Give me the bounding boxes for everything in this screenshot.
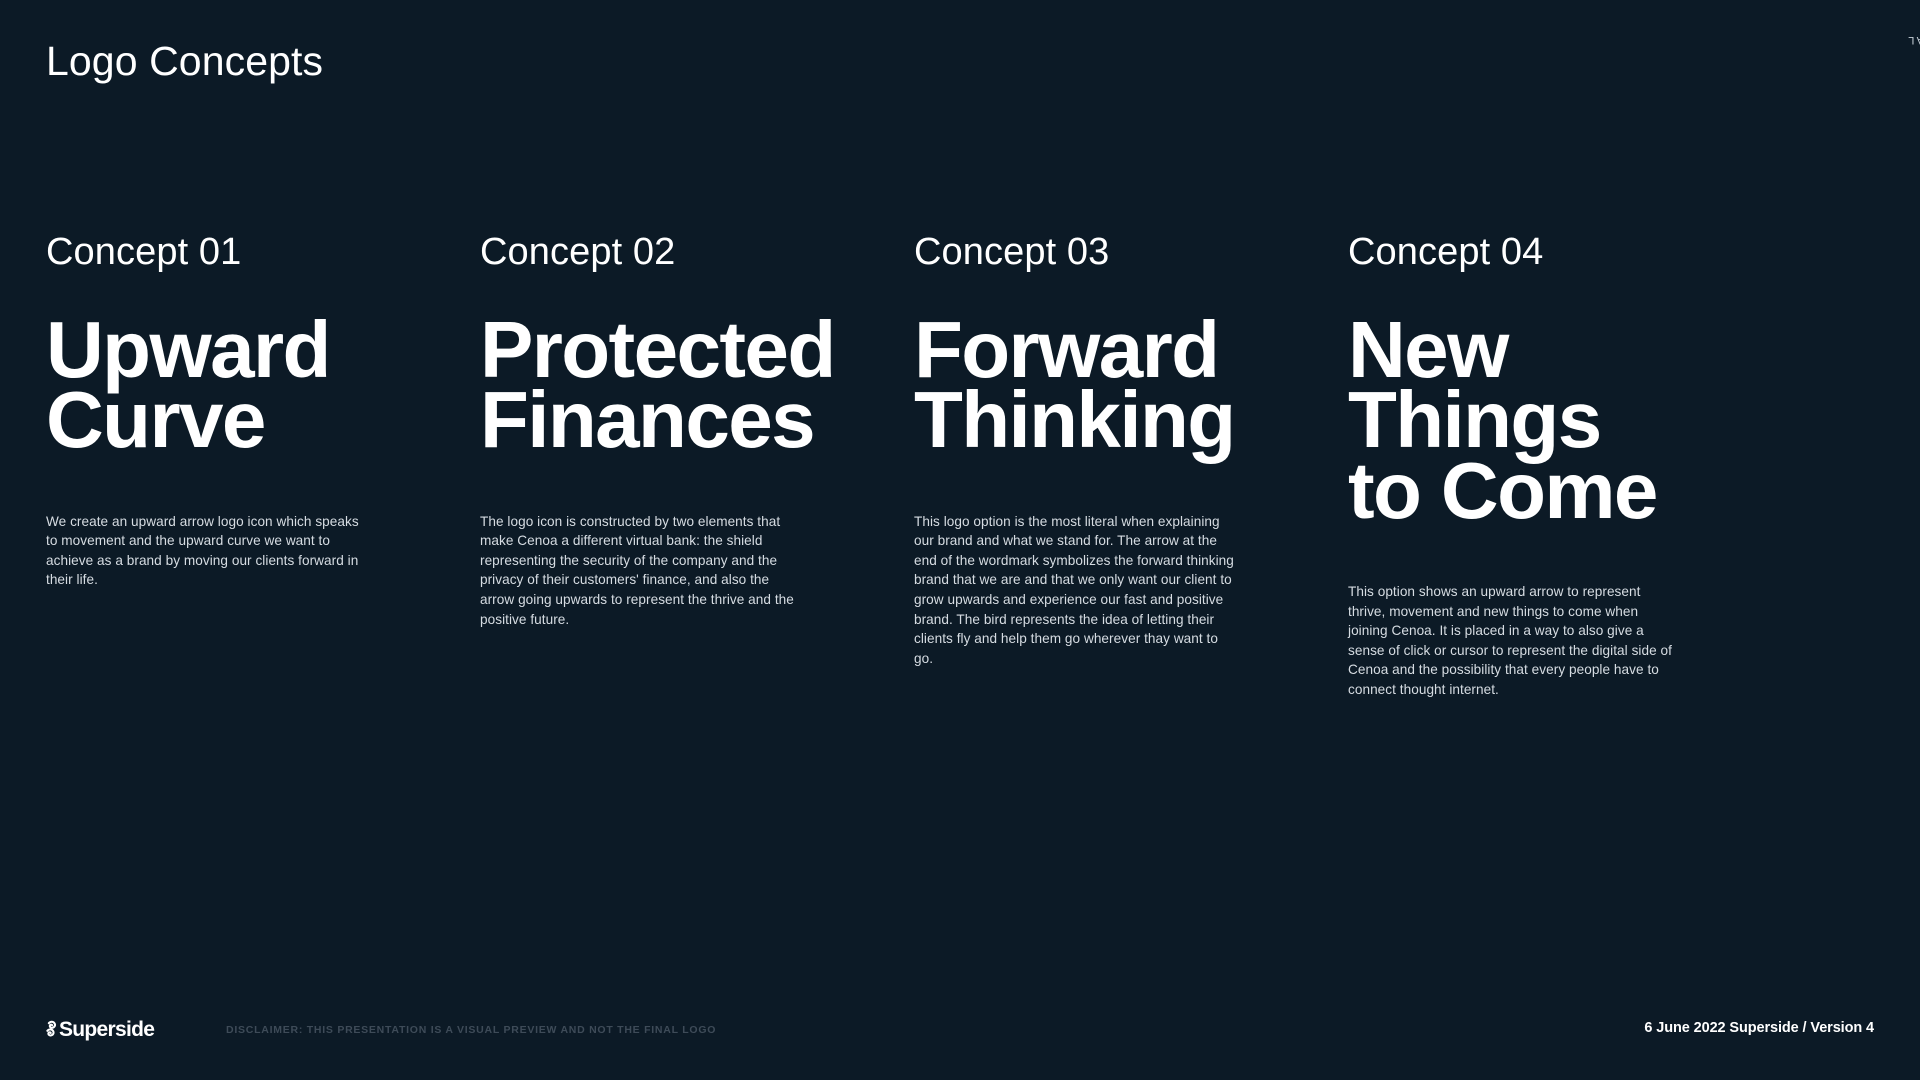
- concept-description: This option shows an upward arrow to rep…: [1348, 582, 1673, 700]
- concept-description: This logo option is the most literal whe…: [914, 512, 1239, 669]
- slide-root: Logo Concepts LOGO PROPOSAL Concept 01 U…: [0, 0, 1920, 1080]
- concept-heading: Protected Finances: [480, 315, 810, 456]
- concept-columns: Concept 01 Upward Curve We create an upw…: [46, 232, 1830, 700]
- concept-column-03: Concept 03 Forward Thinking This logo op…: [914, 232, 1244, 668]
- concept-eyebrow: Concept 02: [480, 232, 810, 274]
- disclaimer-text: DISCLAIMER: THIS PRESENTATION IS A VISUA…: [226, 1024, 716, 1036]
- vertical-section-label: LOGO PROPOSAL: [1906, 34, 1920, 46]
- superside-wordmark: Superside: [59, 1019, 154, 1040]
- concept-column-02: Concept 02 Protected Finances The logo i…: [480, 232, 810, 629]
- footer-meta-text: 6 June 2022 Superside / Version 4: [1644, 1020, 1874, 1036]
- concept-heading: Forward Thinking: [914, 315, 1244, 456]
- page-title: Logo Concepts: [46, 38, 323, 85]
- concept-eyebrow: Concept 01: [46, 232, 376, 274]
- concept-column-04: Concept 04 New Things to Come This optio…: [1348, 232, 1678, 700]
- concept-column-01: Concept 01 Upward Curve We create an upw…: [46, 232, 376, 590]
- slide-footer: Superside DISCLAIMER: THIS PRESENTATION …: [0, 970, 1920, 1080]
- concept-heading: Upward Curve: [46, 315, 376, 456]
- concept-eyebrow: Concept 04: [1348, 232, 1678, 274]
- superside-logo: Superside: [44, 1018, 154, 1040]
- concept-description: The logo icon is constructed by two elem…: [480, 512, 805, 630]
- concept-description: We create an upward arrow logo icon whic…: [46, 512, 371, 590]
- superside-mark-icon: [44, 1019, 66, 1039]
- concept-heading: New Things to Come: [1348, 315, 1678, 526]
- concept-eyebrow: Concept 03: [914, 232, 1244, 274]
